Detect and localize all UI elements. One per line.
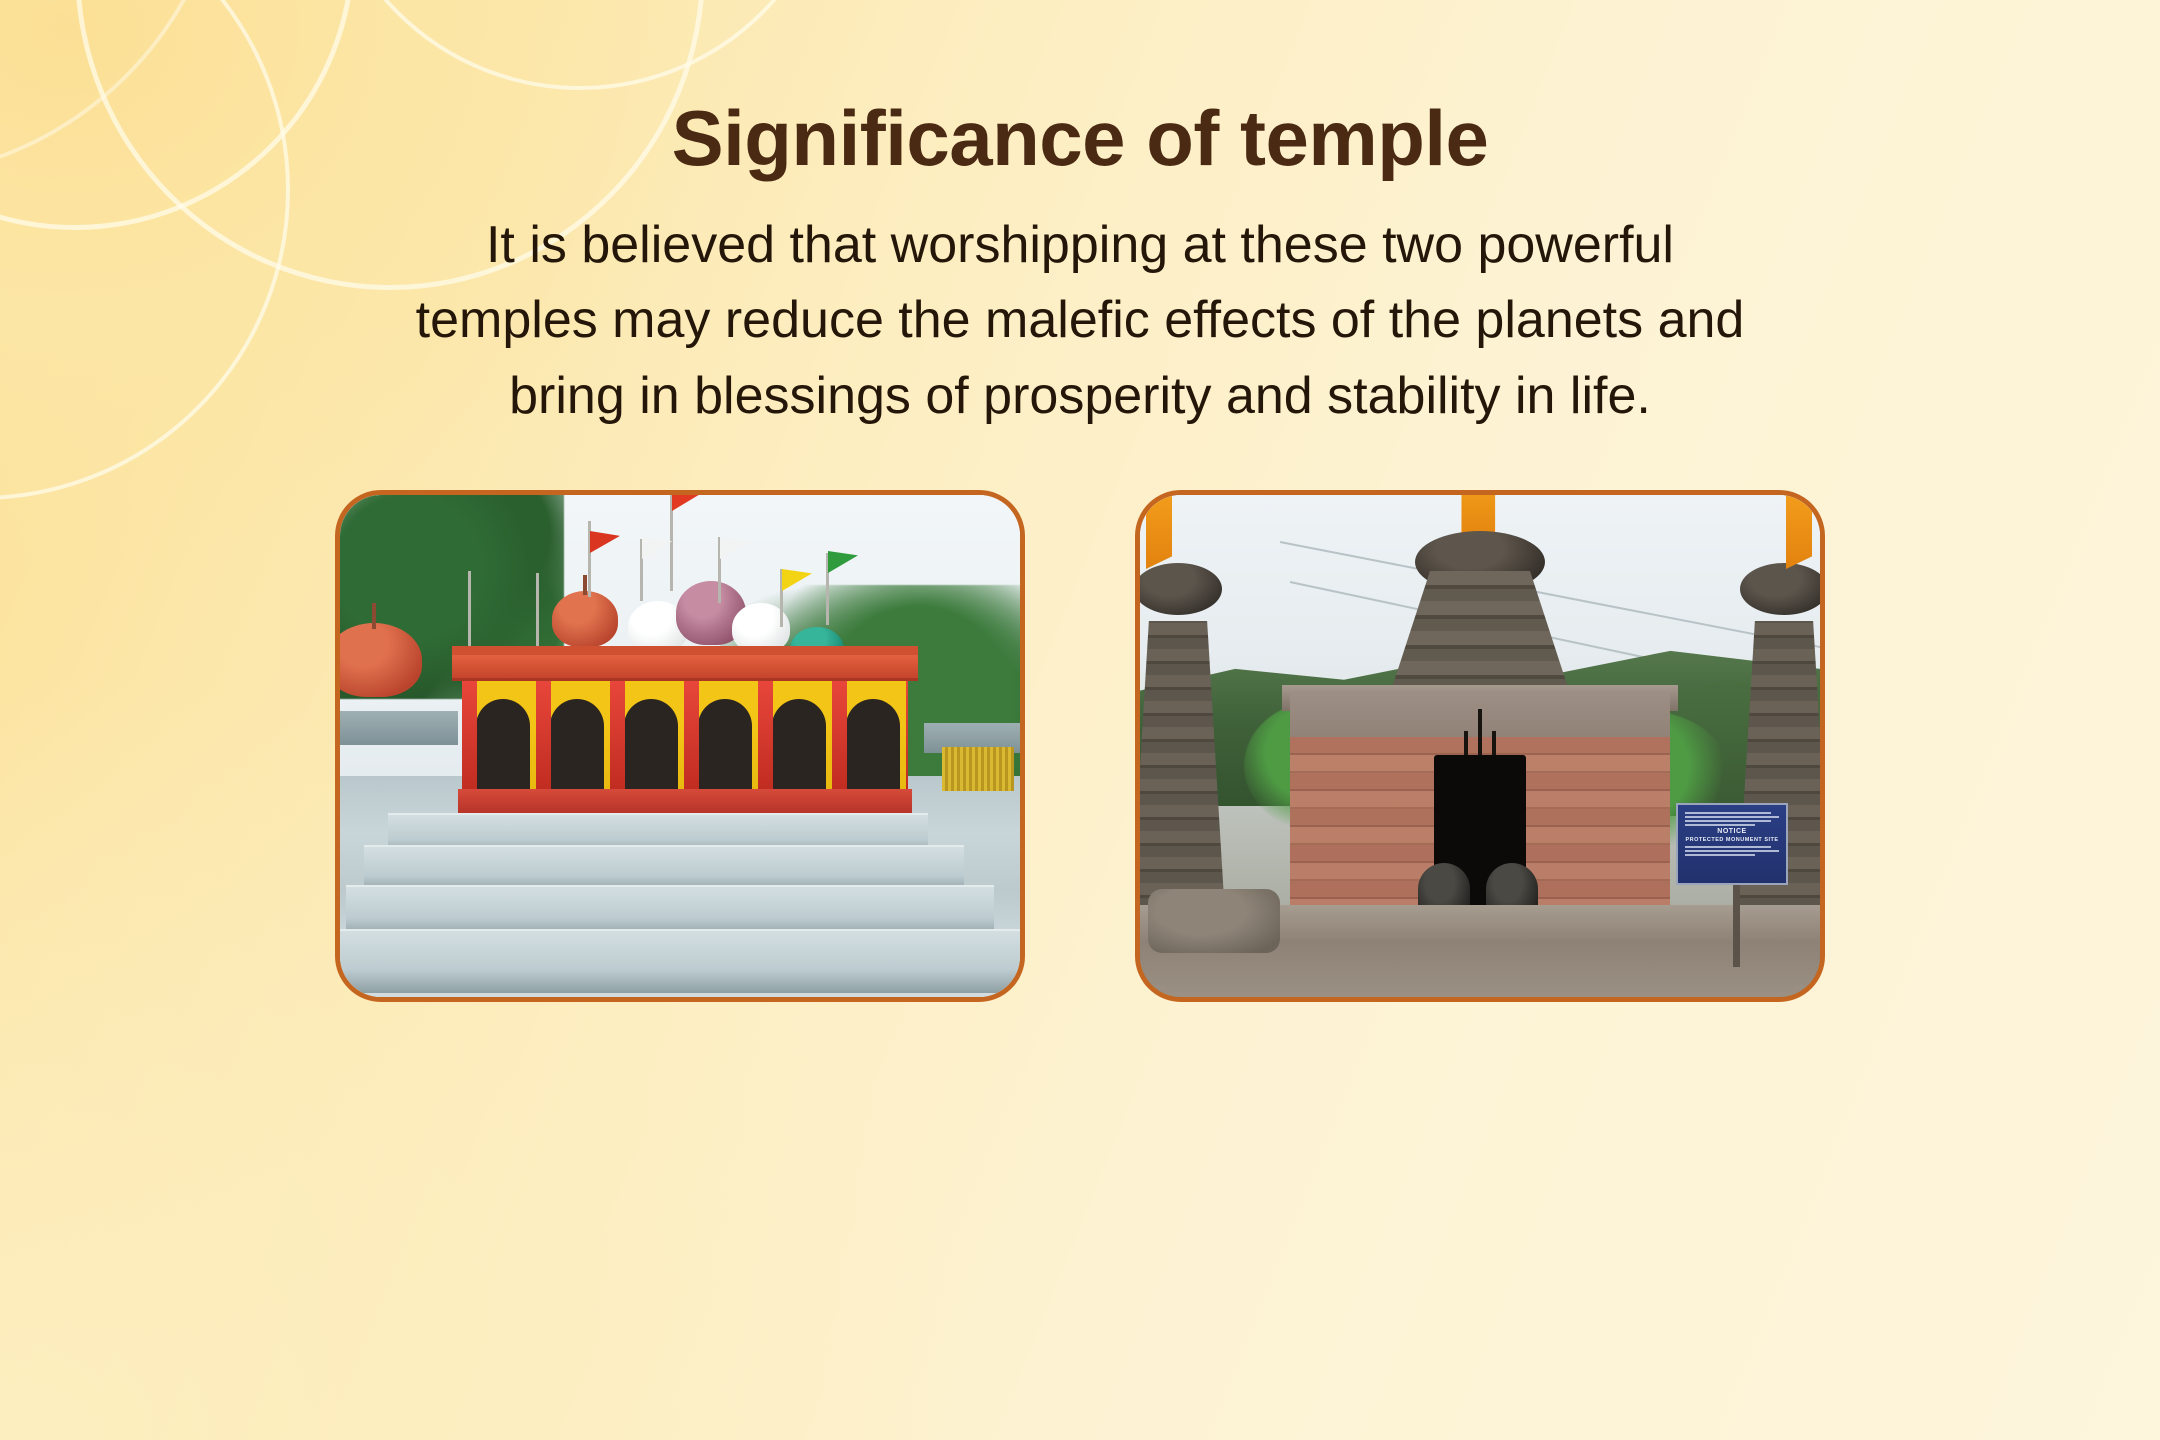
flag-pole	[536, 573, 539, 651]
sign-text-line	[1685, 820, 1771, 822]
body-paragraph: It is believed that worshipping at these…	[120, 208, 2040, 434]
body-line-1: It is believed that worshipping at these…	[120, 208, 2040, 283]
dome-finial	[372, 603, 376, 629]
sign-text-line	[1685, 816, 1779, 818]
temple-pillar	[536, 681, 551, 791]
cusped-arch	[476, 699, 530, 791]
photo-gallery: NOTICE PROTECTED MONUMENT SITE	[0, 490, 2160, 1002]
notice-subheading: PROTECTED MONUMENT SITE	[1682, 837, 1782, 844]
body-line-3: bring in blessings of prosperity and sta…	[120, 359, 2040, 434]
cusped-arch	[698, 699, 752, 791]
cusped-arch	[846, 699, 900, 791]
body-line-2: temples may reduce the malefic effects o…	[120, 283, 2040, 358]
amalaka-stone-disc	[1740, 563, 1820, 615]
saffron-flag	[1146, 495, 1172, 569]
temple-colonnade	[462, 681, 908, 791]
temple-pillar	[610, 681, 625, 791]
stone-step	[340, 929, 1020, 993]
signboard-post	[1733, 881, 1740, 967]
right-temple-photo: NOTICE PROTECTED MONUMENT SITE	[1140, 495, 1820, 997]
notice-signboard: NOTICE PROTECTED MONUMENT SITE	[1676, 803, 1788, 885]
left-photo-frame	[335, 490, 1025, 1002]
temple-pillar	[906, 681, 908, 791]
sign-text-line	[1685, 846, 1771, 848]
dome-finial	[583, 575, 587, 595]
decorative-circle-icon	[320, 0, 840, 90]
side-shed-roof	[340, 711, 458, 745]
cusped-arch	[550, 699, 604, 791]
temple-pillar	[758, 681, 773, 791]
sign-text-line	[1685, 850, 1779, 852]
saffron-flag	[1786, 495, 1812, 569]
page-title: Significance of temple	[0, 96, 2160, 180]
sign-text-line	[1685, 824, 1755, 826]
bamboo-fence	[942, 747, 1014, 791]
stone-rubble	[1148, 889, 1280, 953]
sign-text-line	[1685, 854, 1755, 856]
left-temple-photo	[340, 495, 1020, 997]
temple-pillar	[684, 681, 699, 791]
temple-roof	[452, 655, 918, 681]
cusped-arch	[624, 699, 678, 791]
flag-pole	[468, 571, 471, 657]
trishul-icon	[1460, 709, 1500, 761]
temple-pillar	[832, 681, 847, 791]
temple-dome	[552, 591, 618, 647]
right-photo-frame: NOTICE PROTECTED MONUMENT SITE	[1135, 490, 1825, 1002]
sign-text-line	[1685, 812, 1771, 814]
cusped-arch	[772, 699, 826, 791]
temple-pillar	[462, 681, 477, 791]
notice-heading: NOTICE	[1682, 828, 1782, 837]
slide-canvas: Significance of temple It is believed th…	[0, 0, 2160, 1440]
temple-roof-edge	[452, 646, 918, 655]
